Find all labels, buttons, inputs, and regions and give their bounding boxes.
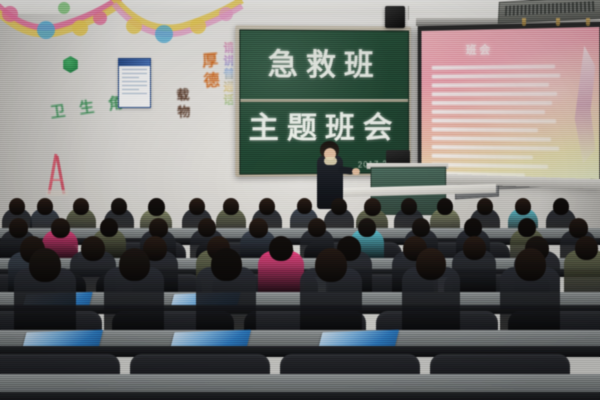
student-head <box>364 198 381 216</box>
slide-body-text <box>432 64 566 179</box>
student-head <box>269 236 293 261</box>
student-head <box>81 236 105 261</box>
student-head <box>416 248 446 280</box>
student-figure <box>104 248 164 334</box>
student-head <box>149 218 168 238</box>
slide-text-line <box>432 145 559 151</box>
student-figure <box>300 248 362 334</box>
poster-header <box>119 59 150 66</box>
student-head <box>297 198 312 214</box>
student-head <box>259 198 275 215</box>
wall-speaker-icon <box>385 6 405 28</box>
ceiling-unit-grill <box>505 1 594 16</box>
student-head <box>198 218 216 237</box>
student-head <box>331 198 347 215</box>
student-head <box>401 198 417 215</box>
student-head <box>463 236 486 260</box>
student-head <box>37 198 53 215</box>
poster-line <box>122 93 147 95</box>
student-head <box>119 248 150 281</box>
student-head <box>189 198 205 215</box>
student-head <box>211 248 242 281</box>
wall-poster <box>118 58 151 108</box>
blackboard-title-line-1: 急救班 <box>240 39 408 84</box>
slide-text-line <box>432 100 552 104</box>
poster-line <box>122 77 139 79</box>
slide-ornament-icon <box>573 45 596 164</box>
wall-text-motto-zaiwu: 载物 <box>175 88 190 123</box>
student-head <box>437 198 453 215</box>
student-head <box>148 198 165 216</box>
student-head <box>518 218 536 237</box>
slide-text-line <box>432 82 550 87</box>
student-head <box>100 218 118 237</box>
student-head <box>553 198 569 215</box>
slide-title: 班会 <box>466 41 493 57</box>
speaker-cable <box>408 6 409 20</box>
student-head <box>358 218 376 237</box>
projection-screen-surface: 班会 <box>421 27 599 179</box>
student-head <box>9 218 28 238</box>
desk-surface <box>0 374 600 392</box>
slide-text-line <box>432 162 548 168</box>
slide-text-line <box>432 109 545 113</box>
slide-text-line <box>432 64 555 69</box>
poster-line <box>122 69 147 71</box>
student-head <box>464 218 482 237</box>
student-figure <box>402 248 460 334</box>
poster-line <box>122 85 147 87</box>
student-head <box>477 198 493 215</box>
red-stand-decoration <box>44 150 70 196</box>
poster-line <box>122 81 147 83</box>
student-head <box>223 198 239 215</box>
student-head <box>315 248 347 282</box>
student-head <box>308 218 326 237</box>
slide-text-line <box>432 91 558 95</box>
student-head <box>569 218 588 238</box>
poster-line <box>122 73 147 75</box>
ceiling-bulb <box>586 18 590 26</box>
projection-screen: 班会 <box>418 22 600 185</box>
ceiling-bulb <box>556 18 560 26</box>
student-figure <box>258 236 304 296</box>
student-head <box>73 198 89 215</box>
blackboard-divider <box>240 99 408 102</box>
poster-line <box>122 89 139 91</box>
student-head <box>249 218 268 238</box>
student-head <box>51 218 70 238</box>
slide-text-line <box>432 127 539 132</box>
student-figure <box>500 248 560 334</box>
student-head <box>515 198 531 215</box>
student-head <box>575 236 598 260</box>
student-figure <box>196 248 256 334</box>
slide-text-line <box>432 136 551 141</box>
student-head <box>412 218 430 237</box>
slide-text-line <box>432 73 561 78</box>
ceiling-bulb <box>522 18 526 26</box>
student-figure <box>14 248 76 334</box>
student-head <box>29 248 61 282</box>
student-head <box>111 198 127 215</box>
slide-text-line <box>432 118 557 123</box>
desk-edge <box>0 392 600 400</box>
student-head <box>9 198 25 215</box>
teacher-hand <box>352 168 360 175</box>
teacher-scarf <box>324 157 337 165</box>
student-head <box>515 248 546 281</box>
wall-text-slogan: 请讲普通话 <box>222 42 233 107</box>
slide-text-line <box>432 153 533 159</box>
student-figure <box>564 236 600 296</box>
wall-text-motto-houde: 厚德 <box>199 51 218 92</box>
paper-garland <box>0 0 244 56</box>
classroom-photo: 卫 生 角 厚德 载物 请讲普通话 急救班 主题班会 2017.2.23 班会 <box>0 0 600 400</box>
